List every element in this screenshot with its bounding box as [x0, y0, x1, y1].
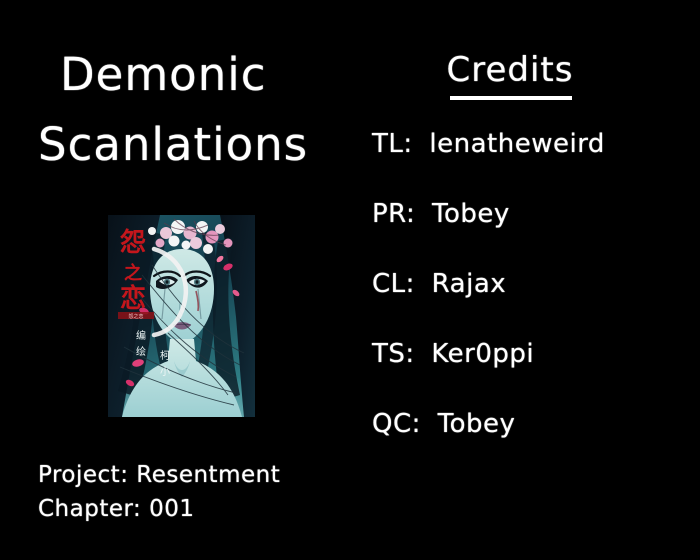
studio-title-line-1: Demonic [60, 40, 360, 110]
credits-heading-underline [450, 96, 572, 100]
credit-row: QC: Tobey [372, 408, 700, 478]
credit-name-ts: Ker0ppi [431, 339, 534, 369]
svg-text:怨之恋: 怨之恋 [128, 313, 143, 320]
credit-role-qc: QC: [372, 409, 421, 439]
chapter-number-line: Chapter: 001 [38, 492, 280, 526]
left-column: Demonic Scanlations [0, 0, 360, 560]
credit-role-pr: PR: [372, 199, 415, 229]
cover-art-thumbnail: 怨 之 恋 怨之恋 编 绘 柯 小 [108, 215, 255, 417]
credit-name-tl: lenatheweird [429, 129, 605, 159]
credits-page: Demonic Scanlations [0, 0, 700, 560]
studio-title-line-2: Scanlations [38, 110, 360, 180]
credit-row: PR: Tobey [372, 198, 700, 268]
credits-heading: Credits [360, 50, 660, 90]
cover-art-illustration: 怨 之 恋 怨之恋 编 绘 柯 小 [108, 215, 255, 417]
credit-row: CL: Rajax [372, 268, 700, 338]
project-name-line: Project: Resentment [38, 458, 280, 492]
credit-row: TS: Ker0ppi [372, 338, 700, 408]
credit-name-qc: Tobey [438, 409, 516, 439]
svg-text:怨: 怨 [120, 228, 146, 258]
credits-list: TL: lenatheweird PR: Tobey CL: Rajax TS:… [372, 128, 700, 478]
svg-text:绘: 绘 [136, 345, 146, 358]
studio-title: Demonic Scanlations [60, 40, 360, 180]
credit-role-ts: TS: [372, 339, 415, 369]
project-info: Project: Resentment Chapter: 001 [38, 458, 280, 526]
credit-row: TL: lenatheweird [372, 128, 700, 198]
credit-name-pr: Tobey [432, 199, 510, 229]
credits-panel: Credits TL: lenatheweird PR: Tobey CL: R… [360, 0, 700, 560]
credit-role-tl: TL: [372, 129, 413, 159]
credit-name-cl: Rajax [432, 269, 506, 299]
svg-text:之: 之 [124, 262, 142, 284]
svg-text:恋: 恋 [120, 283, 146, 314]
svg-text:柯: 柯 [160, 349, 170, 362]
svg-text:小: 小 [160, 366, 170, 378]
credit-role-cl: CL: [372, 269, 415, 299]
svg-text:编: 编 [136, 329, 146, 342]
